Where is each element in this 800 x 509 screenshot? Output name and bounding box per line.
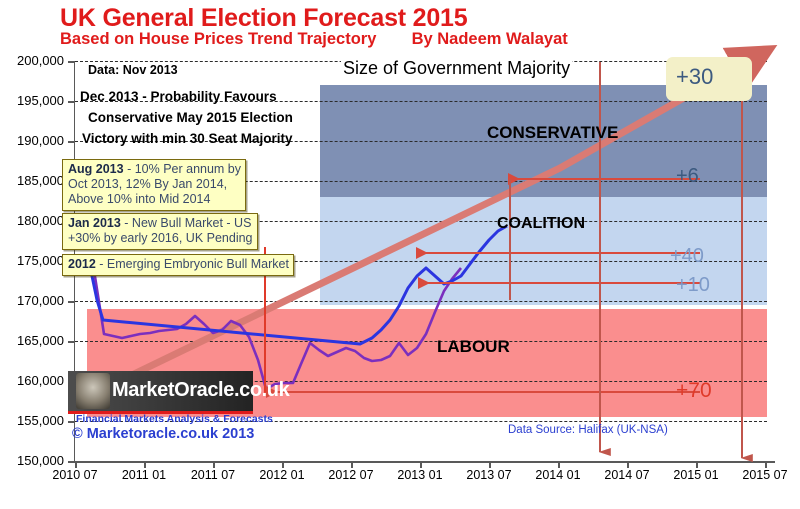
seat-label-plus-6: +6 — [676, 165, 699, 188]
callout-aug-2013-line2: Oct 2013, 12% By Jan 2014, — [68, 177, 241, 192]
data-source-note: Data Source: Halifax (UK-NSA) — [508, 424, 668, 436]
callout-aug-2013: Aug 2013 - 10% Per annum by Oct 2013, 12… — [62, 159, 246, 211]
forecast-note-line3: Victory with min 30 Seat Majority — [82, 131, 293, 146]
callout-aug-2013-line3: Above 10% into Mid 2014 — [68, 192, 241, 207]
seat-label-plus-30: +30 — [676, 64, 713, 90]
band-label-labour: LABOUR — [437, 337, 510, 357]
seat-label-plus-40: +40 — [670, 245, 704, 268]
seat-label-plus-10: +10 — [676, 274, 710, 297]
callout-2012: 2012 - Emerging Embryonic Bull Market — [62, 254, 294, 276]
callout-jan-2013-label: Jan 2013 — [68, 216, 121, 230]
callout-2012-label: 2012 — [68, 257, 96, 271]
callout-aug-2013-line1: - 10% Per annum by — [124, 162, 241, 176]
seat-label-plus-70: +70 — [676, 379, 712, 403]
callout-jan-2013-line1: - New Bull Market - US — [121, 216, 252, 230]
band-label-conservative: CONSERVATIVE — [487, 123, 618, 143]
band-label-coalition: COALITION — [497, 215, 585, 233]
forecast-note-line1: Dec 2013 - Probability Favours — [80, 89, 277, 104]
data-note: Data: Nov 2013 — [88, 63, 178, 77]
callout-jan-2013: Jan 2013 - New Bull Market - US +30% by … — [62, 213, 258, 250]
chart-root: UK General Election Forecast 2015 Based … — [0, 0, 800, 509]
forecast-note-line2: Conservative May 2015 Election — [88, 110, 293, 125]
callout-2012-line1: - Emerging Embryonic Bull Market — [96, 257, 289, 271]
majority-title: Size of Government Majority — [341, 58, 572, 79]
logo-tagline: Financial Markets Analysis & Forecasts — [76, 413, 273, 425]
callout-jan-2013-line2: +30% by early 2016, UK Pending — [68, 231, 253, 246]
logo-copyright: © Marketoracle.co.uk 2013 — [72, 426, 254, 442]
brand-name: MarketOracle.co.uk — [112, 379, 289, 402]
callout-aug-2013-label: Aug 2013 — [68, 162, 124, 176]
thinker-figure-icon — [76, 373, 110, 409]
marketoracle-logo: MarketOracle.co.uk — [68, 371, 253, 414]
